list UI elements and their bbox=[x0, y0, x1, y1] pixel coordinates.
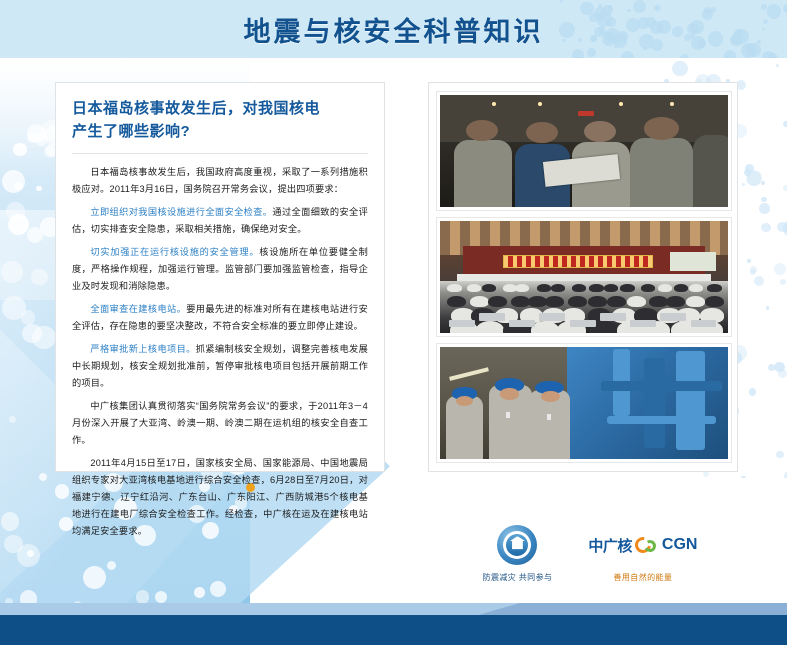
paragraph-1-text: 日本福岛核事故发生后，我国政府高度重视，采取了一系列措施积极应对。2011年3月… bbox=[72, 167, 368, 194]
background-dot bbox=[746, 170, 762, 186]
footer-logo-group: 防震减灾 共同参与 中广核 CGN 善用自然的能量 bbox=[430, 525, 750, 595]
photo2-audience-person bbox=[589, 284, 603, 292]
photo2-audience-person bbox=[568, 296, 587, 307]
seal-emblem-icon bbox=[497, 525, 537, 565]
background-bubble bbox=[107, 561, 116, 570]
background-bubble bbox=[31, 269, 48, 286]
paragraph-6: 中广核集团认真贯彻落实“国务院常务会议”的要求，于2011年3－4月份深入开展了… bbox=[72, 398, 368, 449]
background-dot bbox=[744, 169, 751, 176]
background-bubble bbox=[194, 587, 205, 598]
photo2-audience-person bbox=[545, 296, 564, 307]
photo2-audience-person bbox=[666, 296, 685, 307]
background-bubble bbox=[32, 326, 55, 349]
photo1-spotlight bbox=[492, 102, 496, 106]
photo3-pipe bbox=[644, 358, 664, 448]
background-bubble bbox=[2, 296, 26, 320]
photo2-audience-person bbox=[658, 284, 672, 292]
background-dot bbox=[783, 121, 787, 127]
photo2-audience-person bbox=[470, 296, 489, 307]
photo-panel bbox=[428, 82, 738, 472]
photo2-laptop bbox=[600, 313, 626, 321]
background-bubble bbox=[14, 182, 22, 190]
background-dot bbox=[750, 269, 756, 275]
background-dot bbox=[783, 220, 787, 237]
background-bubble bbox=[4, 535, 23, 554]
background-dot bbox=[776, 451, 784, 459]
photo3-pipe bbox=[601, 381, 722, 391]
header-bar: 地震与核安全科普知识 bbox=[0, 0, 787, 58]
paragraph-5-highlight: 严格审批新上核电项目。 bbox=[90, 344, 195, 354]
cgn-caption: 善用自然的能量 bbox=[614, 572, 673, 583]
photo2-audience-person bbox=[515, 284, 529, 292]
background-bubble bbox=[2, 170, 25, 193]
background-bubble bbox=[155, 591, 167, 603]
background-bubble bbox=[13, 143, 27, 157]
paragraph-6-text: 中广核集团认真贯彻落实“国务院常务会议”的要求，于2011年3－4月份深入开展了… bbox=[72, 401, 368, 445]
background-bubble bbox=[1, 512, 20, 531]
photo2-audience-person bbox=[588, 296, 607, 307]
background-dot bbox=[754, 276, 764, 286]
paragraph-4: 全面审查在建核电站。要用最先进的标准对所有在建核电站进行安全评估，存在隐患的要坚… bbox=[72, 301, 368, 335]
photo2-audience-person bbox=[476, 321, 504, 336]
paragraph-4-highlight: 全面审查在建核电站。 bbox=[90, 304, 186, 314]
photo2-audience-person bbox=[627, 296, 646, 307]
background-bubble bbox=[27, 227, 43, 243]
photo2-audience-person bbox=[537, 284, 551, 292]
photo2-laptop bbox=[479, 313, 505, 321]
photo3-id-badge bbox=[547, 414, 551, 420]
background-dot bbox=[750, 266, 757, 273]
poster-page: 地震与核安全科普知识 日本福岛核事故发生后，对我国核电 产生了哪些影响? 日本福… bbox=[0, 0, 787, 645]
background-bubble bbox=[35, 133, 48, 146]
paragraph-2-highlight: 立即组织对我国核设施进行全面安全检查。 bbox=[90, 207, 272, 217]
background-dot bbox=[778, 369, 787, 378]
background-bubble bbox=[39, 473, 47, 481]
photo2-audience-person bbox=[705, 296, 724, 307]
paragraph-7-text: 2011年4月15日至17日，国家核安全局、国家能源局、中国地震局组织专家对大亚… bbox=[72, 458, 368, 536]
photo1-person-head bbox=[466, 120, 498, 141]
background-bubble bbox=[136, 590, 150, 604]
background-dot bbox=[766, 306, 770, 310]
article-body: 日本福岛核事故发生后，我国政府高度重视，采取了一系列措施积极应对。2011年3月… bbox=[72, 164, 368, 540]
paragraph-1: 日本福岛核事故发生后，我国政府高度重视，采取了一系列措施积极应对。2011年3月… bbox=[72, 164, 368, 198]
photo-plant-equipment-inspection bbox=[437, 344, 731, 462]
photo2-audience-person bbox=[686, 296, 705, 307]
article-panel: 日本福岛核事故发生后，对我国核电 产生了哪些影响? 日本福岛核事故发生后，我国政… bbox=[55, 82, 385, 472]
article-heading-question-mark: ? bbox=[181, 123, 191, 140]
photo3-id-badge bbox=[506, 412, 510, 418]
background-dot bbox=[749, 388, 756, 395]
article-heading-line1: 日本福岛核事故发生后，对我国核电 bbox=[72, 100, 320, 117]
photo2-laptop bbox=[660, 313, 686, 321]
article-heading: 日本福岛核事故发生后，对我国核电 产生了哪些影响? bbox=[72, 97, 368, 144]
background-bubble bbox=[36, 186, 42, 192]
photo2-audience-person bbox=[572, 284, 586, 292]
photo2-laptop bbox=[630, 320, 656, 328]
background-dot bbox=[672, 61, 687, 76]
background-dot bbox=[759, 203, 770, 214]
background-dot bbox=[742, 183, 745, 186]
photo1-person bbox=[693, 135, 731, 207]
background-bubble bbox=[22, 324, 42, 344]
cgn-logo: 中广核 CGN 善用自然的能量 bbox=[588, 525, 697, 583]
photo2-audience-person bbox=[649, 296, 668, 307]
background-bubble bbox=[17, 544, 40, 567]
photo2-laptop bbox=[539, 313, 565, 321]
background-bubble bbox=[9, 416, 16, 423]
photo1-spotlight bbox=[619, 102, 623, 106]
background-bubble bbox=[27, 132, 38, 143]
photo3-pipe bbox=[607, 416, 716, 424]
background-dot bbox=[745, 164, 754, 173]
photo1-red-indicator bbox=[578, 111, 594, 116]
photo2-audience-person bbox=[620, 284, 634, 292]
photo2-audience-person bbox=[447, 284, 461, 292]
photo3-worker-face bbox=[500, 388, 519, 399]
photo1-person-head bbox=[526, 122, 558, 143]
photo3-pipe bbox=[676, 351, 705, 450]
background-bubble bbox=[210, 581, 226, 597]
background-bubble bbox=[27, 124, 46, 143]
photo2-audience-person bbox=[488, 296, 507, 307]
background-bubble bbox=[55, 484, 70, 499]
page-title: 地震与核安全科普知识 bbox=[0, 0, 787, 58]
background-dot bbox=[768, 364, 775, 371]
paragraph-5: 严格审批新上核电项目。抓紧编制核安全规划，调整完善核电发展中长期规划，核安全规划… bbox=[72, 341, 368, 392]
background-bubble bbox=[6, 202, 25, 221]
photo2-audience-person bbox=[607, 296, 626, 307]
background-bubble bbox=[83, 566, 106, 589]
cgn-lockup: 中广核 CGN bbox=[588, 525, 697, 565]
background-dot bbox=[783, 185, 787, 191]
photo2-audience-person bbox=[447, 296, 466, 307]
heading-divider bbox=[72, 153, 368, 154]
background-dot bbox=[741, 476, 746, 478]
photo-inspection-document bbox=[437, 92, 731, 210]
background-dot bbox=[761, 223, 770, 232]
background-dot bbox=[780, 279, 786, 285]
background-dot bbox=[761, 181, 765, 185]
article-heading-line2: 产生了哪些影响 bbox=[72, 123, 181, 140]
photo2-people-group bbox=[440, 221, 728, 333]
seal-caption: 防震减灾 共同参与 bbox=[483, 572, 553, 583]
background-dot bbox=[776, 64, 779, 67]
photo2-audience-person bbox=[641, 284, 655, 292]
photo2-audience-person bbox=[674, 284, 688, 292]
photo1-person bbox=[630, 138, 693, 207]
background-bubble bbox=[44, 146, 56, 158]
background-dot bbox=[747, 171, 762, 186]
photo2-audience-person bbox=[604, 284, 618, 292]
photo1-person bbox=[454, 140, 512, 207]
cgn-name-en: CGN bbox=[662, 536, 698, 554]
paragraph-2: 立即组织对我国核设施进行全面安全检查。通过全面细致的安全评估，切实排查安全隐患，… bbox=[72, 204, 368, 238]
background-dot bbox=[774, 362, 785, 373]
paragraph-7: 2011年4月15日至17日，国家核安全局、国家能源局、中国地震局组织专家对大亚… bbox=[72, 455, 368, 540]
photo2-audience-person bbox=[467, 284, 481, 292]
background-bubble bbox=[1, 261, 23, 283]
photo2-audience-person bbox=[511, 296, 530, 307]
photo1-person-head bbox=[644, 117, 679, 139]
footer-mid-bar-light bbox=[0, 603, 520, 615]
cgn-name-cn: 中广核 bbox=[588, 535, 632, 556]
photo2-audience-person bbox=[689, 284, 703, 292]
photo3-worker-face bbox=[541, 391, 560, 402]
cgn-swirl-icon bbox=[635, 537, 659, 554]
background-bubble bbox=[8, 214, 29, 235]
photo2-laptop bbox=[509, 320, 535, 328]
paragraph-3-highlight: 切实加强正在运行核设施的安全管理。 bbox=[90, 247, 259, 257]
photo-conference-hall bbox=[437, 218, 731, 336]
photo-list bbox=[437, 92, 731, 462]
background-dot bbox=[777, 222, 787, 233]
footer-bottom-bar bbox=[0, 615, 787, 645]
background-bubble bbox=[21, 310, 36, 325]
photo1-spotlight bbox=[538, 102, 542, 106]
paragraph-3: 切实加强正在运行核设施的安全管理。核设施所在单位要健全制度，严格操作规程，加强运… bbox=[72, 244, 368, 295]
photo2-laptop bbox=[691, 320, 717, 328]
photo1-person-head bbox=[584, 121, 616, 142]
photo2-laptop bbox=[570, 320, 596, 328]
photo2-laptop bbox=[449, 320, 475, 328]
photo2-audience-person bbox=[482, 284, 496, 292]
background-dot bbox=[761, 197, 767, 203]
background-bubble bbox=[59, 517, 72, 530]
photo2-audience-person bbox=[551, 284, 565, 292]
background-bubble bbox=[27, 550, 34, 557]
photo2-audience-person bbox=[707, 284, 721, 292]
seismic-seal-logo: 防震减灾 共同参与 bbox=[483, 525, 553, 583]
background-dot bbox=[747, 259, 752, 264]
background-dot bbox=[774, 263, 787, 276]
